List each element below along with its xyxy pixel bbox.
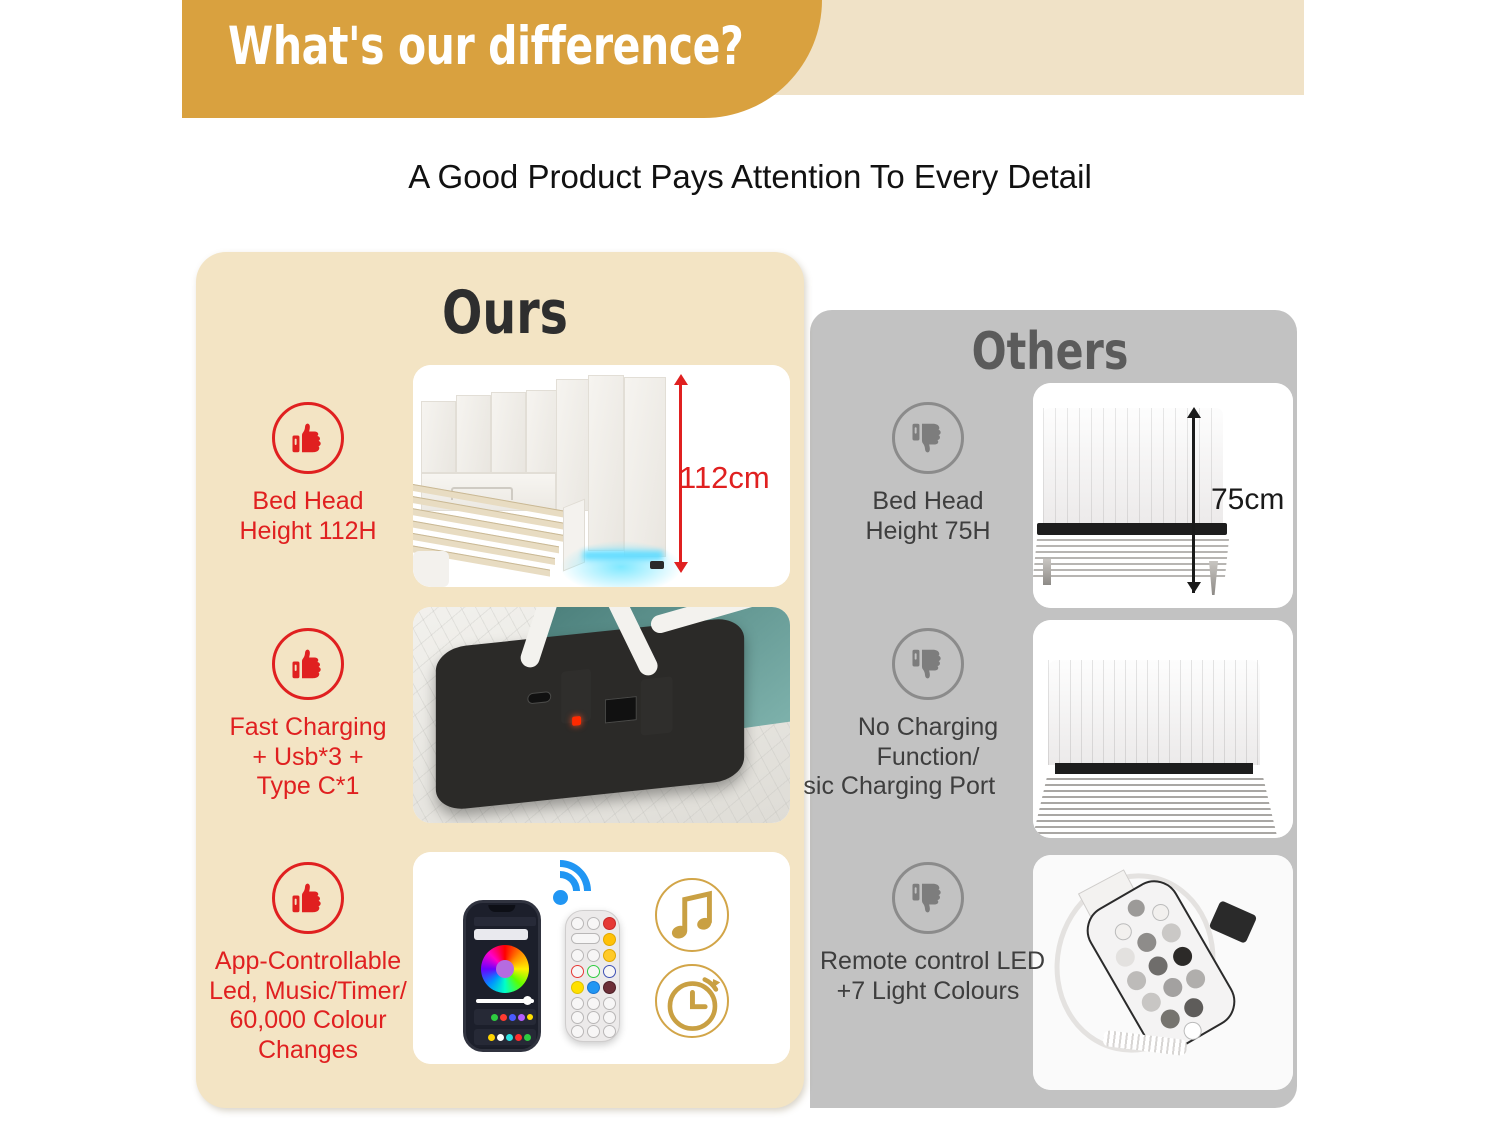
others-heading: Others <box>856 322 1243 382</box>
ours-feature-label: App-Controllable Led, Music/Timer/ 60,00… <box>208 947 408 1065</box>
others-feature-label: Remote control LED +7 Light Colours <box>828 947 1028 1006</box>
ours-feature-label: Bed Head Height 112H <box>208 487 408 546</box>
others-row-remote: Remote control LED +7 Light Colours <box>828 862 1028 1006</box>
ours-dimension-label: 112cm <box>679 460 770 496</box>
others-remote-image-card <box>1033 855 1293 1090</box>
others-feature-label: No Charging Function/ Basic Charging Por… <box>828 713 1028 802</box>
music-note-icon <box>655 878 729 952</box>
ours-feature-label: Fast Charging + Usb*3 + Type C*1 <box>208 713 408 802</box>
others-row-bed-height: Bed Head Height 75H <box>828 402 1028 546</box>
ours-usb-image-card <box>413 607 790 823</box>
others-headboard-image-card <box>1033 620 1293 838</box>
thumbs-up-icon <box>272 402 344 474</box>
thumbs-up-icon <box>272 628 344 700</box>
ours-heading: Ours <box>289 278 720 348</box>
ours-row-app-control: App-Controllable Led, Music/Timer/ 60,00… <box>208 862 408 1065</box>
others-bed-image-card: 75cm <box>1033 383 1293 608</box>
page-title: What's our difference? <box>228 16 743 77</box>
others-dimension-label: 75cm <box>1211 483 1284 517</box>
thumbs-down-icon <box>892 402 964 474</box>
thumbs-down-icon <box>892 628 964 700</box>
ours-row-fast-charging: Fast Charging + Usb*3 + Type C*1 <box>208 628 408 802</box>
ours-row-bed-height: Bed Head Height 112H <box>208 402 408 546</box>
page-subtitle: A Good Product Pays Attention To Every D… <box>0 158 1500 196</box>
phone-mockup <box>463 900 541 1052</box>
others-feature-label: Bed Head Height 75H <box>828 487 1028 546</box>
others-row-charging: No Charging Function/ Basic Charging Por… <box>828 628 1028 802</box>
timer-clock-icon <box>655 964 729 1038</box>
ours-app-image-card <box>413 852 790 1064</box>
infographic-page: What's our difference? A Good Product Pa… <box>0 0 1500 1125</box>
thumbs-down-icon <box>892 862 964 934</box>
led-remote <box>565 910 620 1042</box>
thumbs-up-icon <box>272 862 344 934</box>
